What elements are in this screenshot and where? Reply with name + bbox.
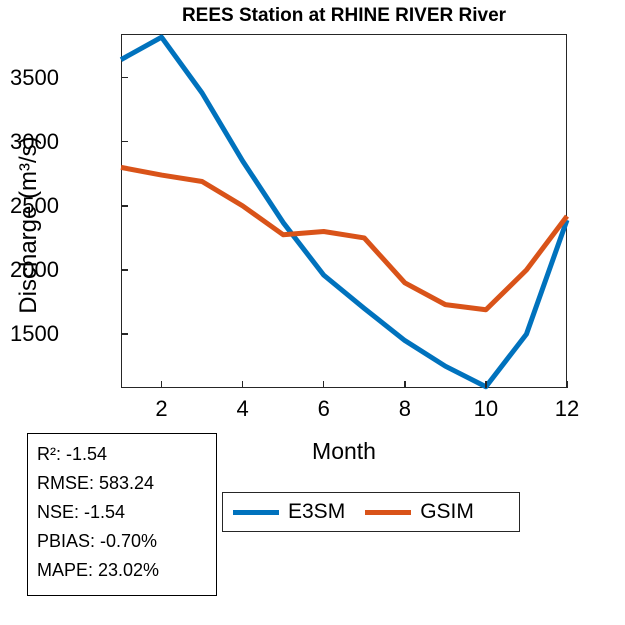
legend-item-gsim[interactable]: GSIM — [365, 493, 480, 531]
legend-item-e3sm[interactable]: E3SM — [233, 493, 351, 531]
chart-title: REES Station at RHINE RIVER River — [121, 5, 567, 27]
x-tick-mark — [404, 381, 405, 388]
legend-swatch-gsim — [365, 510, 411, 515]
x-tick-label: 10 — [474, 396, 498, 422]
x-tick-label: 6 — [318, 396, 330, 422]
y-tick-mark — [121, 269, 128, 270]
legend-swatch-e3sm — [233, 510, 279, 515]
x-tick-label: 8 — [399, 396, 411, 422]
legend-label-gsim: GSIM — [420, 500, 474, 524]
x-tick-mark — [242, 381, 243, 388]
figure: REES Station at RHINE RIVER River 150020… — [0, 0, 625, 625]
x-tick-label: 2 — [155, 396, 167, 422]
y-tick-mark — [121, 77, 128, 78]
stat-nse: NSE: -1.54 — [37, 498, 216, 527]
series-line-gsim — [121, 167, 567, 309]
chart-legend: E3SM GSIM — [222, 492, 520, 532]
x-tick-mark — [485, 381, 486, 388]
x-tick-label: 4 — [237, 396, 249, 422]
y-axis-label: Discharge (m³/s) — [15, 48, 43, 402]
y-tick-mark — [121, 205, 128, 206]
y-tick-mark — [121, 333, 128, 334]
x-tick-mark — [323, 381, 324, 388]
chart-lines — [121, 34, 567, 388]
stat-r2: R²: -1.54 — [37, 440, 216, 469]
statistics-box: R²: -1.54 RMSE: 583.24 NSE: -1.54 PBIAS:… — [27, 433, 217, 596]
stat-mape: MAPE: 23.02% — [37, 556, 216, 585]
stat-pbias: PBIAS: -0.70% — [37, 527, 216, 556]
x-tick-mark — [566, 381, 567, 388]
x-tick-label: 12 — [555, 396, 579, 422]
x-tick-mark — [161, 381, 162, 388]
series-line-e3sm — [121, 37, 567, 387]
stat-rmse: RMSE: 583.24 — [37, 469, 216, 498]
y-tick-mark — [121, 141, 128, 142]
legend-label-e3sm: E3SM — [288, 500, 345, 524]
